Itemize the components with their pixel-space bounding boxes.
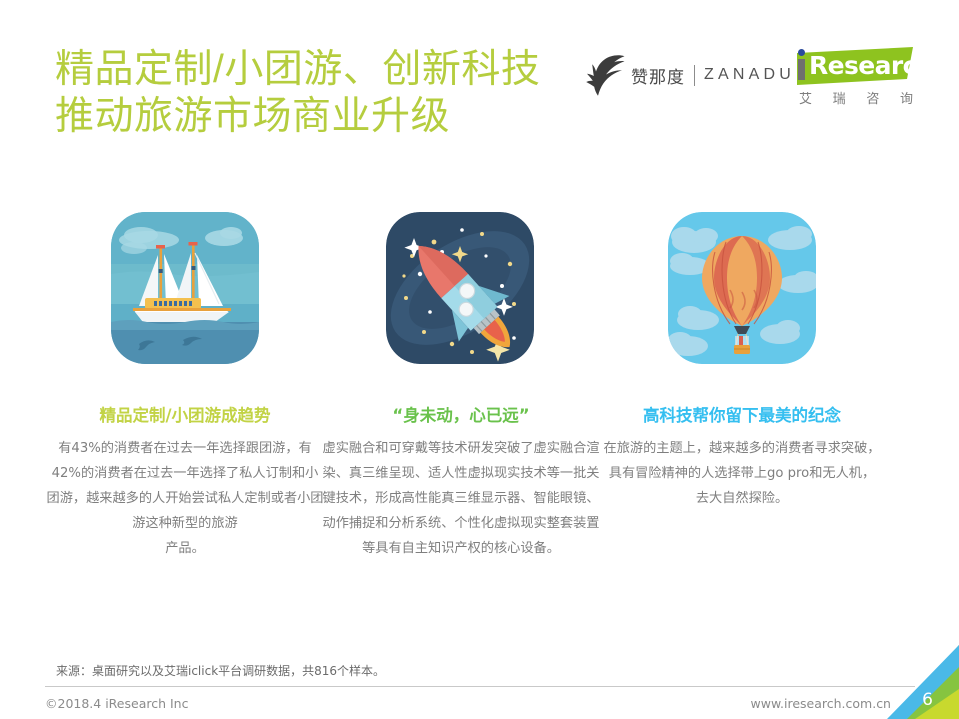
card-column-1 xyxy=(47,212,322,364)
column-3-heading: 高科技帮你留下最美的纪念 xyxy=(603,405,881,427)
card-column-2 xyxy=(322,212,597,364)
column-3-body: 在旅游的主题上，越来越多的消费者寻求突破，具有冒险精神的人选择带上go pro和… xyxy=(603,436,881,511)
column-1-body: 有43%的消费者在过去一年选择跟团游，有42%的消费者在过去一年选择了私人订制和… xyxy=(46,436,324,561)
iresearch-cn-char-1: 艾 xyxy=(799,88,812,107)
copyright-text: ©2018.4 iResearch Inc xyxy=(45,696,188,711)
iresearch-logo: Research 艾 瑞 咨 询 xyxy=(785,47,913,109)
zanadu-logo: 赞那度 ZANADU xyxy=(585,52,795,98)
iresearch-cn-name: 艾 瑞 咨 询 xyxy=(799,88,913,107)
slide-header: 精品定制/小团游、创新科技 推动旅游市场商业升级 赞那度 ZANADU Rese… xyxy=(0,0,959,175)
iresearch-wordmark: Research xyxy=(785,47,913,85)
iresearch-cn-char-2: 瑞 xyxy=(833,88,846,107)
zanadu-cn-name: 赞那度 xyxy=(631,63,685,88)
sailboat-illustration xyxy=(111,212,259,364)
footer-divider xyxy=(45,686,915,687)
text-column-2: “身未动，心已远” 虚实融合和可穿戴等技术研发突破了虚实融合渲染、真三维呈现、适… xyxy=(322,405,600,561)
iresearch-i-stem-icon xyxy=(798,59,805,80)
text-column-3: 高科技帮你留下最美的纪念 在旅游的主题上，越来越多的消费者寻求突破，具有冒险精神… xyxy=(603,405,881,511)
logo-divider xyxy=(694,65,695,86)
source-note: 来源：桌面研究以及艾瑞iclick平台调研数据，共816个样本。 xyxy=(56,662,385,679)
bird-icon xyxy=(585,53,627,97)
page-number: 6 xyxy=(922,690,933,710)
iresearch-cn-char-4: 询 xyxy=(900,88,913,107)
iresearch-i-dot-icon xyxy=(798,49,805,56)
card-column-3 xyxy=(604,212,879,364)
column-2-body: 虚实融合和可穿戴等技术研发突破了虚实融合渲染、真三维呈现、适人性虚拟现实技术等一… xyxy=(322,436,600,561)
rocket-illustration xyxy=(386,212,534,364)
text-column-1: 精品定制/小团游成趋势 有43%的消费者在过去一年选择跟团游，有42%的消费者在… xyxy=(46,405,324,561)
column-1-heading: 精品定制/小团游成趋势 xyxy=(46,405,324,427)
column-2-heading: “身未动，心已远” xyxy=(322,405,600,427)
iresearch-cn-char-3: 咨 xyxy=(866,88,879,107)
zanadu-en-name: ZANADU xyxy=(704,66,795,84)
iresearch-word: Research xyxy=(809,51,934,80)
page-title: 精品定制/小团游、创新科技 推动旅游市场商业升级 xyxy=(55,46,675,140)
hot-air-balloon-illustration xyxy=(668,212,816,364)
website-url[interactable]: www.iresearch.com.cn xyxy=(751,696,892,711)
illustration-cards-row xyxy=(0,212,959,387)
